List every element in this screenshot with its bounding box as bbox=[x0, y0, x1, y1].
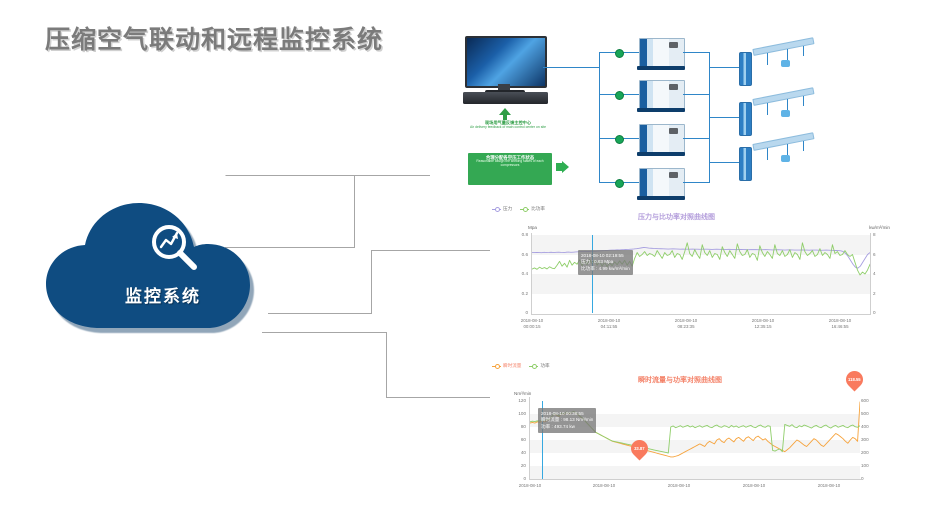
compressor-3 bbox=[639, 124, 683, 152]
drop-2c bbox=[803, 96, 804, 106]
connector-to-flow-chart-h2 bbox=[386, 397, 491, 398]
chart2-ytick-left-5: 20 bbox=[500, 463, 526, 468]
node-1 bbox=[615, 49, 624, 58]
wire-out-3 bbox=[683, 138, 710, 139]
chart2-marker-low-label: 33.87 bbox=[634, 446, 644, 451]
chart2-xtick-0: 2018-08-10 bbox=[502, 483, 558, 489]
chart2-ytick-right-1: 500 bbox=[861, 411, 881, 416]
chart2-ytick-left-3: 60 bbox=[500, 437, 526, 442]
chart1-xtick-1-time: 04:11:55 bbox=[581, 324, 637, 330]
green-status-box: 合理分配各空压工作状态 Reasonable assign the workin… bbox=[468, 153, 552, 185]
tool-3 bbox=[781, 155, 790, 162]
chart1-ylabel-right: kw/m³/min bbox=[869, 225, 890, 230]
chart1-axis-left bbox=[531, 233, 532, 315]
wire-bus-vertical bbox=[599, 52, 600, 182]
right-arrow-icon bbox=[556, 161, 569, 173]
legend-item-power[interactable]: 功率 bbox=[529, 363, 549, 369]
chart1-ytick-left-4: 0 bbox=[508, 310, 528, 315]
pressure-power-chart: 压力 比功率 压力与比功率对照曲线图 Mpa kw/m³/min 0.8 0.6… bbox=[490, 205, 890, 335]
tool-2 bbox=[781, 110, 790, 117]
chart1-xtick-4-time: 16:46:55 bbox=[812, 324, 868, 330]
legend-marker-pressure bbox=[492, 209, 501, 210]
monitoring-cloud[interactable]: 监控系统 bbox=[38, 200, 288, 335]
chart2-ytick-right-0: 600 bbox=[861, 398, 881, 403]
drop-3c bbox=[803, 141, 804, 151]
chart1-ytick-right-0: 8 bbox=[873, 232, 887, 237]
pipeline-3 bbox=[752, 132, 814, 151]
legend-label-power: 功率 bbox=[540, 363, 549, 369]
chart2-marker-high[interactable]: 118.55 bbox=[842, 367, 866, 391]
monitor-caption: 现场用气量反馈主控中心 Air delivery feedback of mai… bbox=[453, 121, 563, 130]
tool-1 bbox=[781, 60, 790, 67]
chart2-tooltip-line2: 功率 : 493.74 kw bbox=[541, 424, 593, 431]
pipeline-1 bbox=[752, 37, 814, 56]
legend-label-flow: 瞬时流量 bbox=[503, 363, 521, 369]
chart2-ytick-right-4: 200 bbox=[861, 450, 881, 455]
green-box-en: Reasonable assign the working states of … bbox=[469, 160, 551, 168]
chart2-xtick-2-date: 2018-08-10 bbox=[651, 483, 707, 489]
chart2-ytick-right-2: 400 bbox=[861, 424, 881, 429]
legend-item-pressure[interactable]: 压力 bbox=[492, 206, 512, 212]
chart2-ytick-left-1: 100 bbox=[500, 411, 526, 416]
legend-item-specific-power[interactable]: 比功率 bbox=[520, 206, 545, 212]
chart2-xtick-2: 2018-08-10 bbox=[651, 483, 707, 489]
slide-canvas: 压缩空气联动和远程监控系统 监控系统 bbox=[0, 0, 945, 529]
chart2-title: 瞬时流量与功率对照曲线图 bbox=[638, 375, 722, 385]
node-3 bbox=[615, 135, 624, 144]
legend-marker-flow bbox=[492, 366, 501, 367]
chart2-legend: 瞬时流量 功率 bbox=[492, 363, 550, 369]
chart2-xtick-1-date: 2018-08-10 bbox=[576, 483, 632, 489]
connector-to-pressure-chart-v bbox=[371, 250, 372, 314]
chart1-ytick-right-2: 4 bbox=[873, 271, 887, 276]
cloud-label: 监控系统 bbox=[38, 282, 288, 307]
node-4 bbox=[615, 179, 624, 188]
chart1-xtick-2-time: 08:23:35 bbox=[658, 324, 714, 330]
chart1-tooltip: 2018-08-10 02:19:55 压力 : 0.63 Mpa 比功率 : … bbox=[578, 250, 633, 275]
wire-out-4 bbox=[683, 182, 710, 183]
monitor-caption-en: Air delivery feedback of main control ce… bbox=[453, 126, 563, 130]
chart1-ytick-left-1: 0.6 bbox=[508, 252, 528, 257]
chart2-xtick-3: 2018-08-10 bbox=[726, 483, 782, 489]
chart1-tooltip-line2: 比功率 : 4.99 kw/m³/min bbox=[581, 266, 630, 273]
chart1-ytick-right-3: 2 bbox=[873, 291, 887, 296]
chart1-ylabel-left: Mpa bbox=[528, 225, 537, 230]
chart2-ytick-left-4: 40 bbox=[500, 450, 526, 455]
wire-out-1 bbox=[683, 52, 710, 53]
chart-magnifier-icon bbox=[146, 220, 202, 276]
chart2-xtick-0-date: 2018-08-10 bbox=[502, 483, 558, 489]
legend-label-specific-power: 比功率 bbox=[531, 206, 545, 212]
chart1-ytick-left-3: 0.2 bbox=[508, 291, 528, 296]
chart2-ytick-right-6: 0 bbox=[861, 476, 881, 481]
air-tank-2 bbox=[739, 102, 752, 136]
chart1-axis-right bbox=[870, 233, 871, 315]
wire-to-tank-1 bbox=[709, 67, 741, 68]
legend-marker-specific-power bbox=[520, 209, 529, 210]
chart1-xtick-2: 2018-08-10 08:23:35 bbox=[658, 318, 714, 329]
chart1-xtick-1: 2018-08-10 04:11:55 bbox=[581, 318, 637, 329]
chart2-tooltip: 2018-08-10 00:38:55 瞬时流量 : 98.13 Nm³/min… bbox=[538, 408, 596, 433]
page-title: 压缩空气联动和远程监控系统 bbox=[45, 20, 383, 56]
chart2-xtick-1: 2018-08-10 bbox=[576, 483, 632, 489]
drop-3a bbox=[767, 148, 768, 160]
chart2-xtick-4-date: 2018-08-10 bbox=[801, 483, 857, 489]
flow-power-chart: 瞬时流量 功率 瞬时流量与功率对照曲线图 Nm³/min 120 100 80 … bbox=[490, 362, 890, 529]
connector-to-diagram-h2 bbox=[354, 175, 430, 176]
wire-to-tank-2 bbox=[709, 117, 741, 118]
chart2-ytick-left-2: 80 bbox=[500, 424, 526, 429]
connector-to-flow-chart-v bbox=[386, 332, 387, 398]
pipeline-2 bbox=[752, 87, 814, 106]
chart1-ytick-left-2: 0.4 bbox=[508, 271, 528, 276]
compressor-4 bbox=[639, 168, 683, 196]
chart2-ytick-left-6: 0 bbox=[500, 476, 526, 481]
drop-2a bbox=[767, 103, 768, 115]
up-arrow-icon bbox=[498, 108, 512, 120]
chart2-ytick-left-0: 120 bbox=[500, 398, 526, 403]
chart1-ytick-right-4: 0 bbox=[873, 310, 887, 315]
air-tank-3 bbox=[739, 147, 752, 181]
wire-out-2 bbox=[683, 94, 710, 95]
chart2-tooltip-line1: 瞬时流量 : 98.13 Nm³/min bbox=[541, 417, 593, 424]
chart1-xtick-3-time: 12:35:15 bbox=[735, 324, 791, 330]
legend-item-flow[interactable]: 瞬时流量 bbox=[492, 363, 521, 369]
air-tank-1 bbox=[739, 52, 752, 86]
wire-monitor-bus bbox=[543, 67, 600, 68]
compressed-air-system-diagram: 现场用气量反馈主控中心 Air delivery feedback of mai… bbox=[443, 22, 943, 202]
chart1-ytick-left-0: 0.8 bbox=[508, 232, 528, 237]
chart1-title: 压力与比功率对照曲线图 bbox=[638, 212, 715, 222]
chart1-xtick-0: 2018-08-10 00:00:15 bbox=[504, 318, 560, 329]
chart2-ylabel-left: Nm³/min bbox=[514, 391, 531, 396]
monitor-screen bbox=[465, 36, 547, 88]
legend-marker-power bbox=[529, 366, 538, 367]
compressor-1 bbox=[639, 38, 683, 66]
chart1-xtick-3: 2018-08-10 12:35:15 bbox=[735, 318, 791, 329]
node-2 bbox=[615, 91, 624, 100]
chart2-xtick-3-date: 2018-08-10 bbox=[726, 483, 782, 489]
connector-to-diagram-v bbox=[354, 175, 355, 248]
chart1-axis-bottom bbox=[531, 314, 871, 315]
connector-to-pressure-chart-h2 bbox=[371, 250, 491, 251]
chart2-axis-left bbox=[529, 397, 530, 480]
chart1-ytick-right-1: 6 bbox=[873, 252, 887, 257]
keyboard bbox=[463, 92, 548, 104]
chart1-xtick-4: 2018-08-10 16:46:55 bbox=[812, 318, 868, 329]
legend-label-pressure: 压力 bbox=[503, 206, 512, 212]
chart1-legend: 压力 比功率 bbox=[492, 206, 545, 212]
chart1-tooltip-line1: 压力 : 0.63 Mpa bbox=[581, 259, 630, 266]
chart2-marker-high-label: 118.55 bbox=[848, 377, 861, 382]
compressor-2 bbox=[639, 80, 683, 108]
chart1-xtick-0-time: 00:00:15 bbox=[504, 324, 560, 330]
chart2-ytick-right-3: 300 bbox=[861, 437, 881, 442]
chart2-xtick-4: 2018-08-10 bbox=[801, 483, 857, 489]
chart2-ytick-right-5: 100 bbox=[861, 463, 881, 468]
chart2-axis-bottom bbox=[529, 479, 861, 480]
wire-to-tank-3 bbox=[709, 162, 741, 163]
drop-1c bbox=[803, 46, 804, 56]
drop-1a bbox=[767, 53, 768, 65]
